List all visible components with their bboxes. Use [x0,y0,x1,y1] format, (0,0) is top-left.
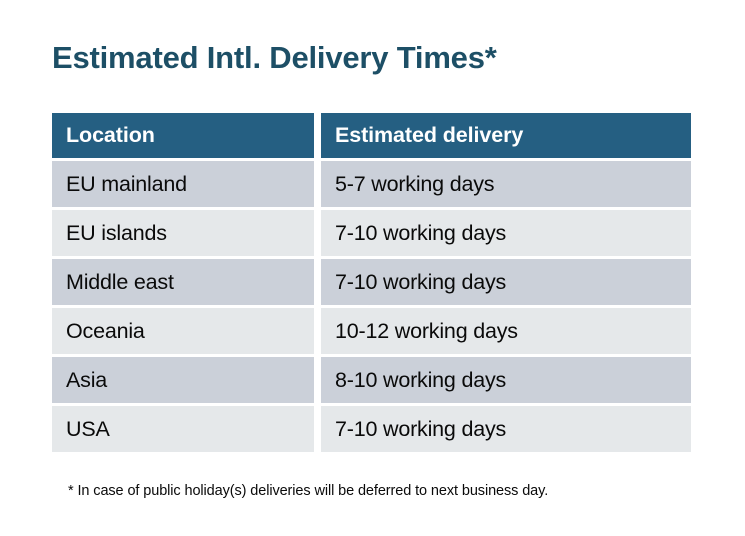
delivery-times-page: Estimated Intl. Delivery Times* Location… [0,0,745,536]
cell-estimated-delivery: 7-10 working days [321,259,691,305]
table-row: Middle east 7-10 working days [52,259,691,305]
cell-location: Oceania [52,308,314,354]
column-divider [314,210,321,256]
cell-estimated-delivery: 5-7 working days [321,161,691,207]
footnote-text: * In case of public holiday(s) deliverie… [68,481,708,501]
cell-location: Middle east [52,259,314,305]
cell-estimated-delivery: 7-10 working days [321,210,691,256]
cell-estimated-delivery: 8-10 working days [321,357,691,403]
cell-estimated-delivery: 10-12 working days [321,308,691,354]
column-divider [314,161,321,207]
table-row: EU mainland 5-7 working days [52,161,691,207]
table-header-row: Location Estimated delivery [52,113,691,158]
column-header-estimated-delivery: Estimated delivery [321,113,691,158]
cell-location: EU islands [52,210,314,256]
table-row: Asia 8-10 working days [52,357,691,403]
cell-location: USA [52,406,314,452]
column-divider [314,308,321,354]
column-divider [314,113,321,158]
column-divider [314,406,321,452]
cell-estimated-delivery: 7-10 working days [321,406,691,452]
column-divider [314,357,321,403]
cell-location: Asia [52,357,314,403]
delivery-times-table: Location Estimated delivery EU mainland … [52,113,691,452]
table-row: USA 7-10 working days [52,406,691,452]
table-row: Oceania 10-12 working days [52,308,691,354]
cell-location: EU mainland [52,161,314,207]
column-divider [314,259,321,305]
column-header-location: Location [52,113,314,158]
page-title: Estimated Intl. Delivery Times* [52,38,712,78]
table-row: EU islands 7-10 working days [52,210,691,256]
